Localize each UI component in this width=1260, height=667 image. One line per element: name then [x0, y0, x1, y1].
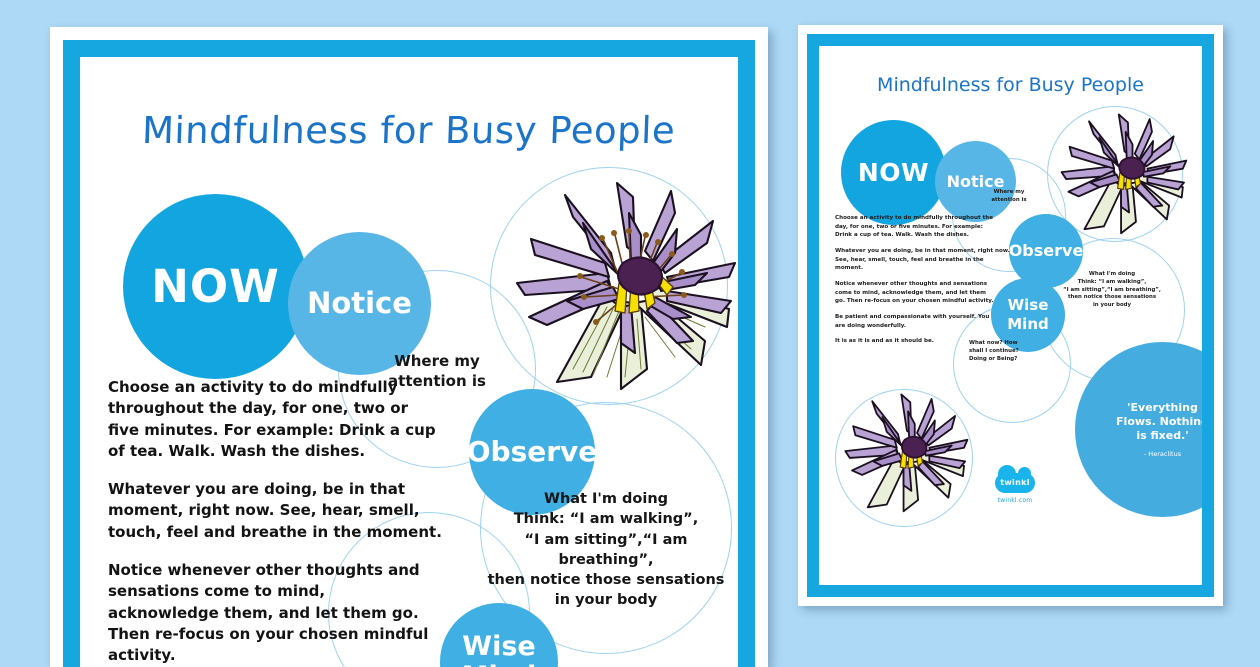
thumb-poster-body-text: Choose an activity to do mindfully throu…: [835, 214, 995, 353]
thumb-quote-attribution: - Heraclitus: [1144, 450, 1181, 458]
body-paragraph: Notice whenever other thoughts and sensa…: [108, 560, 438, 666]
annotation-what-im-doing: What I'm doing Think: “I am walking”, “I…: [478, 489, 734, 611]
thumb-circle-observe-label: Observe: [1009, 242, 1084, 260]
thumb-quote-text: 'Everything Flows. Nothing is fixed.': [1116, 401, 1202, 442]
circle-notice-label: Notice: [307, 288, 412, 320]
twinkl-logo-word: twinkl: [995, 478, 1035, 487]
twinkl-logo[interactable]: twinkl twinkl.com: [985, 473, 1045, 504]
thumb-circle-now[interactable]: NOW: [841, 120, 946, 225]
thumb-body-paragraph: Notice whenever other thoughts and sensa…: [835, 280, 995, 306]
poster-sheet: Mindfulness for Busy People: [80, 57, 738, 667]
thumb-circle-wise-label-2: Mind: [1007, 315, 1048, 334]
outline-circle-flower-top: [490, 167, 728, 405]
thumb-poster-sheet: Mindfulness for Busy People: [819, 46, 1202, 585]
thumb-circle-notice-label: Notice: [947, 173, 1005, 191]
thumb-body-paragraph: It is as it is and as it should be.: [835, 337, 995, 346]
body-paragraph: Whatever you are doing, be in that momen…: [108, 479, 476, 543]
page-title: Mindfulness for Busy People: [80, 109, 738, 152]
thumb-outline-circle-flower-bottom: [835, 389, 973, 527]
circle-now-label: NOW: [151, 262, 280, 312]
screenshot-canvas: Mindfulness for Busy People: [0, 0, 1260, 630]
circle-wise-label-2: Mind: [462, 662, 537, 667]
circle-now[interactable]: NOW: [123, 194, 308, 379]
thumb-annotation-where-my-attention: Where my attention is: [971, 189, 1047, 205]
main-poster-preview[interactable]: Mindfulness for Busy People: [50, 27, 768, 667]
thumb-body-paragraph: Choose an activity to do mindfully throu…: [835, 214, 995, 240]
circle-wise-label-1: Wise: [462, 632, 535, 662]
thumb-annotation-what-im-doing: What I'm doing Think: “I am walking”, “I…: [1041, 271, 1183, 310]
thumb-body-paragraph: Be patient and compassionate with yourse…: [835, 313, 995, 330]
poster-body-text: Choose an activity to do mindfully throu…: [108, 377, 438, 667]
page-title-text: Mindfulness for Busy People: [142, 109, 677, 152]
cloud-icon: twinkl: [995, 473, 1035, 493]
thumbnail-poster-preview[interactable]: Mindfulness for Busy People: [798, 25, 1223, 606]
thumb-page-title-text: Mindfulness for Busy People: [877, 74, 1144, 96]
body-paragraph: Choose an activity to do mindfully throu…: [108, 377, 438, 462]
thumb-circle-now-label: NOW: [858, 159, 929, 187]
thumb-body-paragraph: Whatever you are doing, be in that momen…: [835, 247, 1013, 273]
twinkl-logo-url: twinkl.com: [985, 497, 1045, 504]
thumb-page-title: Mindfulness for Busy People: [819, 74, 1202, 96]
thumb-circle-notice[interactable]: Notice: [935, 141, 1016, 222]
circle-observe-label: Observe: [467, 437, 598, 468]
